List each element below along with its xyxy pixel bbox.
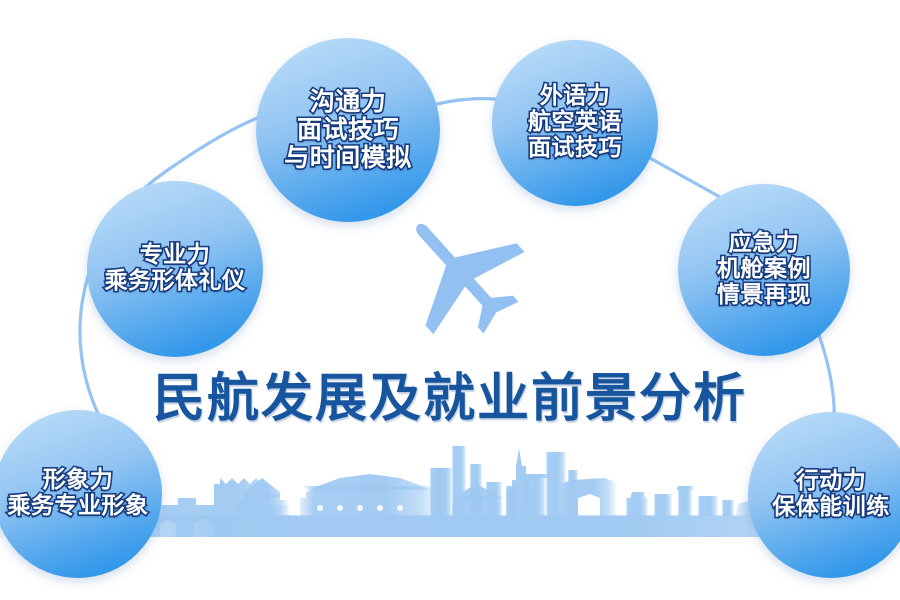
bubble-circle-emergency[interactable] [678, 184, 850, 356]
bubble-circle-communication[interactable] [256, 38, 440, 222]
poster-canvas: 沟通力 面试技巧 与时间模拟 外语力 航空英语 面试技巧 专业力 乘务形体礼仪 … [0, 0, 900, 600]
airplane-icon [372, 184, 546, 359]
bubble-circle-image[interactable] [0, 410, 162, 578]
bubble-circle-action[interactable] [748, 412, 900, 578]
poster-graphics [0, 0, 900, 600]
bubble-circle-professional[interactable] [87, 181, 263, 357]
bubble-circle-foreign-language[interactable] [492, 40, 658, 206]
